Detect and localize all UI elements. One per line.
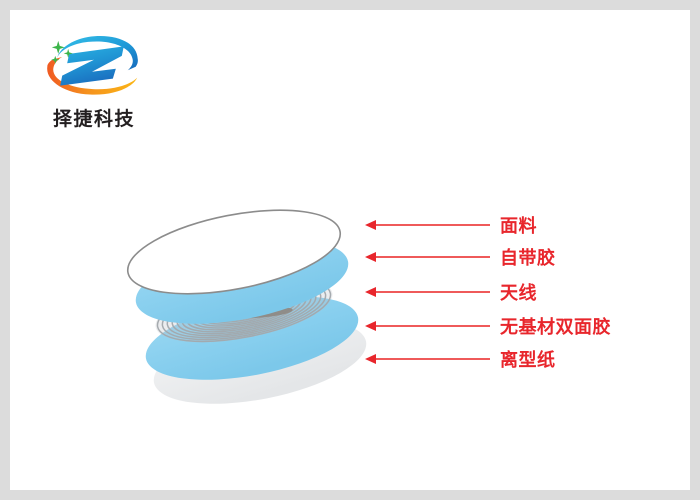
callout-label-self-adhesive: 自带胶: [500, 244, 556, 270]
callout-list: 面料 自带胶 天线 无基材双面胶: [365, 200, 665, 380]
callout-antenna: 天线: [365, 279, 537, 305]
logo-z-glyph: [60, 46, 124, 85]
callout-label-fabric: 面料: [500, 212, 537, 238]
callout-arrow-icon: [365, 287, 490, 297]
callout-arrow-icon: [365, 252, 490, 262]
callout-arrow-icon: [365, 354, 490, 364]
callout-label-release-paper: 离型纸: [500, 346, 556, 372]
callout-fabric: 面料: [365, 212, 537, 238]
callout-label-double-sided-adhesive: 无基材双面胶: [500, 313, 611, 339]
callout-self-adhesive: 自带胶: [365, 244, 556, 270]
brand-logo: 择捷科技: [38, 30, 158, 145]
callout-label-antenna: 天线: [500, 279, 537, 305]
image-frame: 择捷科技: [0, 0, 700, 500]
callout-double-sided-adhesive: 无基材双面胶: [365, 313, 611, 339]
z-swoosh-logo-icon: [38, 30, 148, 102]
callout-arrow-icon: [365, 321, 490, 331]
callout-release-paper: 离型纸: [365, 346, 556, 372]
callout-arrow-icon: [365, 220, 490, 230]
brand-wordmark: 择捷科技: [38, 104, 150, 131]
image-canvas: 择捷科技: [10, 10, 690, 490]
